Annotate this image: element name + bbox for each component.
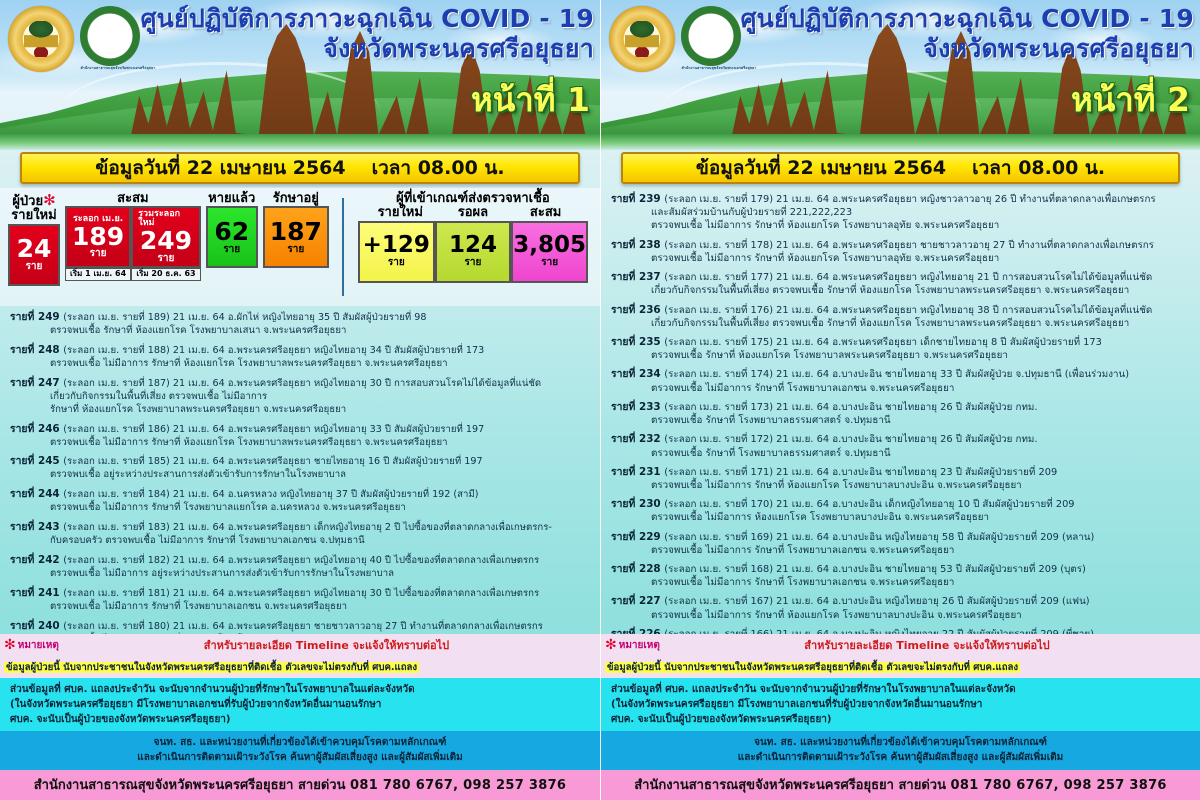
footer-cyan-line-1: ส่วนข้อมูลที่ ศบค. แถลงประจำวัน จะนับจาก… <box>611 682 1194 697</box>
page-title-line-2: จังหวัดพระนครศรีอยุธยา <box>141 34 594 64</box>
cumulative-group: สะสม ระลอก เม.ย. 189 ราย เริ่ม 1 เม.ย. 6… <box>65 192 201 281</box>
cumulative-title: สะสม <box>65 192 201 206</box>
panel-page-1: สำนักงานสาธารณสุขจังหวัดพระนครศรีอยุธยา … <box>0 0 600 800</box>
footer-highlight-row-2: ข้อมูลผู้ป่วยนี้ นับจากประชาชนในจังหวัดพ… <box>601 655 1200 678</box>
case-line-2: เกี่ยวกับกิจกรรมในพื้นที่เสี่ยง ตรวจพบเช… <box>611 317 1192 330</box>
footer-hotline-label: สายด่วน <box>898 778 945 793</box>
case-line-2: ตรวจพบเชื้อ ไม่มีอาการ อยู่ระหว่างประสาน… <box>10 568 592 581</box>
stat-cell-new-cases: 24 ราย <box>8 224 60 286</box>
page-title-line-1: ศูนย์ปฏิบัติการภาวะฉุกเฉิน COVID - 19 <box>141 4 594 34</box>
case-index: รายที่ 243 <box>10 521 63 533</box>
ground-strip <box>0 134 600 150</box>
case-line-1: (ระลอก เม.ย. รายที่ 187) 21 เม.ย. 64 อ.พ… <box>63 378 541 389</box>
case-index: รายที่ 240 <box>10 620 63 632</box>
case-index: รายที่ 249 <box>10 311 63 323</box>
new-patients-title: ผู้ป่วย✻ รายใหม่ <box>8 192 60 224</box>
stat-cell-cumulative-april: ระลอก เม.ย. 189 ราย <box>65 206 131 268</box>
asterisk-icon: ✻ <box>605 637 617 653</box>
stat-cell-treating: 187 ราย <box>263 206 329 268</box>
case-index: รายที่ 241 <box>10 587 63 599</box>
case-item: รายที่ 243 (ระลอก เม.ย. รายที่ 183) 21 เ… <box>10 520 592 548</box>
case-line-2: ตรวจพบเชื้อ ไม่มีอาการ รักษาที่ โรงพยาบา… <box>611 382 1192 395</box>
datebar-date: ข้อมูลวันที่ 22 เมษายน 2564 <box>95 153 345 183</box>
case-line-1: (ระลอก เม.ย. รายที่ 181) 21 เม.ย. 64 อ.พ… <box>63 588 539 599</box>
stat-value-treating: 187 <box>270 219 322 245</box>
case-index: รายที่ 248 <box>10 344 63 356</box>
stat-value-new-cases: 24 <box>17 236 52 262</box>
treating-title: รักษาอยู่ <box>263 192 329 206</box>
case-index: รายที่ 234 <box>611 368 664 380</box>
case-line-2: ตรวจพบเชื้อ ไม่มีอาการ รักษาที่ โรงพยาบา… <box>611 576 1192 589</box>
footer-note-row-2: ✻ หมายเหตุ สำหรับรายละเอียด Timeline จะแ… <box>601 634 1200 655</box>
asterisk-icon: ✻ <box>4 637 16 653</box>
case-line-1: (ระลอก เม.ย. รายที่ 178) 21 เม.ย. 64 อ.พ… <box>664 240 1154 251</box>
stat-value-screening-new: +129 <box>363 234 430 257</box>
page-number-label: หน้าที่ 1 <box>471 73 590 126</box>
footer-cyan-block-2: ส่วนข้อมูลที่ ศบค. แถลงประจำวัน จะนับจาก… <box>601 678 1200 731</box>
case-item: รายที่ 228 (ระลอก เม.ย. รายที่ 168) 21 เ… <box>611 562 1192 589</box>
footer-blue-line-1: จนท. สธ. และหน่วยงานที่เกี่ยวข้องได้เข้า… <box>609 736 1192 751</box>
datebar: ข้อมูลวันที่ 22 เมษายน 2564 เวลา 08.00 น… <box>621 152 1180 184</box>
case-line-2: กับครอบครัว ตรวจพบเชื้อ ไม่มีอาการ รักษา… <box>10 535 592 548</box>
footer-cyan-line-2: (ในจังหวัดพระนครศรีอยุธยา มีโรงพยาบาลเอก… <box>10 697 594 712</box>
stat-unit-screening-cumulative: ราย <box>541 258 558 268</box>
case-item: รายที่ 238 (ระลอก เม.ย. รายที่ 178) 21 เ… <box>611 238 1192 265</box>
stat-unit-recovered: ราย <box>223 245 240 255</box>
case-line-2: ตรวจพบเชื้อ ไม่มีอาการ รักษาที่ ห้องแยกโ… <box>10 437 592 450</box>
treating-cells: 187 ราย <box>263 206 329 268</box>
footer-cyan-line-3: ศบค. จะนับเป็นผู้ป่วยของจังหวัดพระนครศรี… <box>10 712 594 727</box>
stat-cell-screening-pending: 124 ราย <box>435 221 512 283</box>
case-line-1: (ระลอก เม.ย. รายที่ 170) 21 เม.ย. 64 อ.บ… <box>664 499 1074 510</box>
case-list-page-1: รายที่ 249 (ระลอก เม.ย. รายที่ 189) 21 เ… <box>0 306 600 634</box>
statistics-row: ผู้ป่วย✻ รายใหม่ 24 ราย สะสม <box>0 188 600 306</box>
case-item: รายที่ 237 (ระลอก เม.ย. รายที่ 177) 21 เ… <box>611 270 1192 297</box>
new-patients-title-line-2: รายใหม่ <box>11 208 56 223</box>
case-line-1: (ระลอก เม.ย. รายที่ 168) 21 เม.ย. 64 อ.บ… <box>664 564 1086 575</box>
case-item: รายที่ 242 (ระลอก เม.ย. รายที่ 182) 21 เ… <box>10 553 592 581</box>
treating-group: รักษาอยู่ 187 ราย <box>263 192 329 268</box>
footer-blue-line-2: และดำเนินการติดตามเฝ้าระวังโรค ค้นหาผู้ส… <box>609 751 1192 766</box>
case-item: รายที่ 245 (ระลอก เม.ย. รายที่ 185) 21 เ… <box>10 454 592 482</box>
case-index: รายที่ 247 <box>10 377 63 389</box>
footer-contact-bar-1: สำนักงานสาธารณสุขจังหวัดพระนครศรีอยุธยา … <box>0 770 600 800</box>
datebar: ข้อมูลวันที่ 22 เมษายน 2564 เวลา 08.00 น… <box>20 152 580 184</box>
stat-value-cumulative-total: 249 <box>140 228 192 254</box>
page-title: ศูนย์ปฏิบัติการภาวะฉุกเฉิน COVID - 19 จั… <box>741 4 1194 63</box>
case-index: รายที่ 232 <box>611 433 664 445</box>
case-item: รายที่ 230 (ระลอก เม.ย. รายที่ 170) 21 เ… <box>611 497 1192 524</box>
case-line-2: ตรวจพบเชื้อ ไม่มีอาการ รักษาที่ โรงพยาบา… <box>611 544 1192 557</box>
datebar-date: ข้อมูลวันที่ 22 เมษายน 2564 <box>696 153 946 183</box>
case-index: รายที่ 233 <box>611 401 664 413</box>
footer-cyan-line-3: ศบค. จะนับเป็นผู้ป่วยของจังหวัดพระนครศรี… <box>611 712 1194 727</box>
datebar-time: เวลา 08.00 น. <box>372 153 505 183</box>
patient-stats-group: ผู้ป่วย✻ รายใหม่ 24 ราย สะสม <box>6 192 334 286</box>
page-number-label: หน้าที่ 2 <box>1071 73 1190 126</box>
ground-strip <box>601 134 1200 150</box>
case-item: รายที่ 232 (ระลอก เม.ย. รายที่ 172) 21 เ… <box>611 432 1192 459</box>
case-item: รายที่ 239 (ระลอก เม.ย. รายที่ 179) 21 เ… <box>611 192 1192 233</box>
case-line-1: (ระลอก เม.ย. รายที่ 184) 21 เม.ย. 64 อ.น… <box>63 489 478 500</box>
stat-unit-screening-pending: ราย <box>465 258 482 268</box>
case-item: รายที่ 248 (ระลอก เม.ย. รายที่ 188) 21 เ… <box>10 343 592 371</box>
asterisk-icon: ✻ <box>43 191 56 209</box>
case-line-1: (ระลอก เม.ย. รายที่ 189) 21 เม.ย. 64 อ.ผ… <box>63 312 426 323</box>
cumulative-column-april: ระลอก เม.ย. 189 ราย เริ่ม 1 เม.ย. 64 <box>65 206 131 281</box>
header-page-2: สำนักงานสาธารณสุขจังหวัดพระนครศรีอยุธยา … <box>601 0 1200 150</box>
caduceus-icon <box>95 25 125 43</box>
case-index: รายที่ 230 <box>611 498 664 510</box>
case-item: รายที่ 241 (ระลอก เม.ย. รายที่ 181) 21 เ… <box>10 586 592 614</box>
footer-hotline-numbers[interactable]: 081 780 6767, 098 257 3876 <box>350 778 566 793</box>
case-line-1: (ระลอก เม.ย. รายที่ 186) 21 เม.ย. 64 อ.พ… <box>63 424 484 435</box>
case-line-2: ตรวจพบเชื้อ ไม่มีอาการ รักษาที่ ห้องแยกโ… <box>611 252 1192 265</box>
case-line-3: ตรวจพบเชื้อ ไม่มีอาการ รักษาที่ ห้องแยกโ… <box>611 219 1192 232</box>
datebar-wrapper-2: ข้อมูลวันที่ 22 เมษายน 2564 เวลา 08.00 น… <box>601 150 1200 188</box>
stat-cell-screening-new: +129 ราย <box>358 221 435 283</box>
screening-label-cumulative: สะสม <box>509 206 582 220</box>
footer-office-name: สำนักงานสาธารณสุขจังหวัดพระนครศรีอยุธยา <box>34 778 294 793</box>
screening-label-new: รายใหม่ <box>364 206 437 220</box>
case-item: รายที่ 240 (ระลอก เม.ย. รายที่ 180) 21 เ… <box>10 619 592 634</box>
case-index: รายที่ 229 <box>611 531 664 543</box>
case-line-1: (ระลอก เม.ย. รายที่ 182) 21 เม.ย. 64 อ.พ… <box>63 555 539 566</box>
case-line-1: (ระลอก เม.ย. รายที่ 175) 21 เม.ย. 64 อ.พ… <box>664 337 1102 348</box>
footer-timeline-text: สำหรับรายละเอียด Timeline จะแจ้งให้ทราบต… <box>804 636 1049 654</box>
case-line-3: รักษาที่ ห้องแยกโรค โรงพยาบาลพระนครศรีอย… <box>10 404 592 417</box>
poster-board: สำนักงานสาธารณสุขจังหวัดพระนครศรีอยุธยา … <box>0 0 1200 800</box>
case-line-2: ตรวจพบเชื้อ ไม่มีอาการ รักษาที่ ห้องแยกโ… <box>10 358 592 371</box>
case-index: รายที่ 231 <box>611 466 664 478</box>
recovered-cells: 62 ราย <box>206 206 258 268</box>
case-index: รายที่ 228 <box>611 563 664 575</box>
case-line-2: ตรวจพบเชื้อ ไม่มีอาการ รักษาที่ โรงพยาบา… <box>10 601 592 614</box>
page-title: ศูนย์ปฏิบัติการภาวะฉุกเฉิน COVID - 19 จั… <box>141 4 594 63</box>
case-line-1: (ระลอก เม.ย. รายที่ 188) 21 เม.ย. 64 อ.พ… <box>63 345 484 356</box>
footer-note-row-1: ✻ หมายเหตุ สำหรับรายละเอียด Timeline จะแ… <box>0 634 600 655</box>
provincial-seal-icon <box>609 6 675 72</box>
case-index: รายที่ 235 <box>611 336 664 348</box>
datebar-time: เวลา 08.00 น. <box>972 153 1105 183</box>
stat-value-cumulative-april: 189 <box>72 224 124 250</box>
recovered-group: หายแล้ว 62 ราย <box>206 192 258 268</box>
footer-hotline-numbers[interactable]: 081 780 6767, 098 257 3876 <box>951 778 1167 793</box>
screening-label-pending: รอผล <box>437 206 510 220</box>
case-item: รายที่ 233 (ระลอก เม.ย. รายที่ 173) 21 เ… <box>611 400 1192 427</box>
case-item: รายที่ 247 (ระลอก เม.ย. รายที่ 187) 21 เ… <box>10 376 592 417</box>
case-index: รายที่ 245 <box>10 455 63 467</box>
case-line-2: ตรวจพบเชื้อ ไม่มีอาการ รักษาที่ ห้องแยกโ… <box>611 479 1192 492</box>
case-line-2: ตรวจพบเชื้อ รักษาที่ ห้องแยกโรค โรงพยาบา… <box>10 325 592 338</box>
provincial-seal-icon <box>8 6 74 72</box>
footer-cyan-block-1: ส่วนข้อมูลที่ ศบค. แถลงประจำวัน จะนับจาก… <box>0 678 600 731</box>
case-line-2: ตรวจพบเชื้อ อยู่ระหว่างประสานการส่งตัวเข… <box>10 469 592 482</box>
footer-cyan-line-2: (ในจังหวัดพระนครศรีอยุธยา มีโรงพยาบาลเอก… <box>611 697 1194 712</box>
case-line-2: เกี่ยวกับกิจกรรมในพื้นที่เสี่ยง ตรวจพบเช… <box>611 284 1192 297</box>
footer-note-label: หมายเหตุ <box>619 638 660 653</box>
footer-page-1: ✻ หมายเหตุ สำหรับรายละเอียด Timeline จะแ… <box>0 634 600 800</box>
footer-office-name: สำนักงานสาธารณสุขจังหวัดพระนครศรีอยุธยา <box>634 778 894 793</box>
stat-note-cumulative-april: เริ่ม 1 เม.ย. 64 <box>65 268 131 281</box>
new-patients-cells: 24 ราย <box>8 224 60 286</box>
case-line-2: ตรวจพบเชื้อ ไม่มีอาการ ห้องแยกโรค โรงพยา… <box>611 511 1192 524</box>
case-line-2: ตรวจพบเชื้อ รักษาที่ ห้องแยกโรค โรงพยาบา… <box>611 349 1192 362</box>
recovered-title: หายแล้ว <box>206 192 258 206</box>
stat-cell-recovered: 62 ราย <box>206 206 258 268</box>
stat-unit-cumulative-total: ราย <box>158 254 175 264</box>
case-line-1: (ระลอก เม.ย. รายที่ 176) 21 เม.ย. 64 อ.พ… <box>664 305 1152 316</box>
case-item: รายที่ 244 (ระลอก เม.ย. รายที่ 184) 21 เ… <box>10 487 592 515</box>
case-item: รายที่ 235 (ระลอก เม.ย. รายที่ 175) 21 เ… <box>611 335 1192 362</box>
page-title-line-1: ศูนย์ปฏิบัติการภาวะฉุกเฉิน COVID - 19 <box>741 4 1194 34</box>
footer-blue-line-2: และดำเนินการติดตามเฝ้าระวังโรค ค้นหาผู้ส… <box>8 751 592 766</box>
footer-cyan-line-1: ส่วนข้อมูลที่ ศบค. แถลงประจำวัน จะนับจาก… <box>10 682 594 697</box>
stat-unit-treating: ราย <box>287 245 304 255</box>
case-line-2: และสัมผัสร่วมบ้านกับผู้ป่วยรายที่ 221,22… <box>611 206 1192 219</box>
case-index: รายที่ 238 <box>611 239 664 251</box>
case-item: รายที่ 234 (ระลอก เม.ย. รายที่ 174) 21 เ… <box>611 367 1192 394</box>
case-index: รายที่ 244 <box>10 488 63 500</box>
logo-group <box>8 6 140 72</box>
case-line-1: (ระลอก เม.ย. รายที่ 173) 21 เม.ย. 64 อ.บ… <box>664 402 1037 413</box>
case-line-1: (ระลอก เม.ย. รายที่ 171) 21 เม.ย. 64 อ.บ… <box>664 467 1057 478</box>
header-page-1: สำนักงานสาธารณสุขจังหวัดพระนครศรีอยุธยา … <box>0 0 600 150</box>
stat-unit-new-cases: ราย <box>26 262 43 272</box>
ministry-of-public-health-icon <box>681 6 741 66</box>
case-line-1: (ระลอก เม.ย. รายที่ 183) 21 เม.ย. 64 อ.พ… <box>63 522 552 533</box>
new-patients-title-line-1: ผู้ป่วย <box>12 194 43 209</box>
case-line-1: (ระลอก เม.ย. รายที่ 179) 21 เม.ย. 64 อ.พ… <box>664 194 1155 205</box>
case-line-2: ตรวจพบเชื้อ ไม่มีอาการ รักษาที่ โรงพยาบา… <box>10 502 592 515</box>
cumulative-cells: ระลอก เม.ย. 189 ราย เริ่ม 1 เม.ย. 64 รวม… <box>65 206 201 281</box>
new-patients-group: ผู้ป่วย✻ รายใหม่ 24 ราย <box>8 192 60 286</box>
cumulative-column-total: รวมระลอกใหม่ 249 ราย เริ่ม 20 ธ.ค. 63 <box>131 206 201 281</box>
footer-highlight-text: ข้อมูลผู้ป่วยนี้ นับจากประชาชนในจังหวัดพ… <box>4 662 419 673</box>
stat-unit-screening-new: ราย <box>388 258 405 268</box>
stat-cell-screening-cumulative: 3,805 ราย <box>511 221 588 283</box>
ministry-of-public-health-icon <box>80 6 140 66</box>
footer-highlight-text: ข้อมูลผู้ป่วยนี้ นับจากประชาชนในจังหวัดพ… <box>605 662 1020 673</box>
stat-value-screening-pending: 124 <box>449 234 497 257</box>
case-item: รายที่ 236 (ระลอก เม.ย. รายที่ 176) 21 เ… <box>611 303 1192 330</box>
footer-blue-line-1: จนท. สธ. และหน่วยงานที่เกี่ยวข้องได้เข้า… <box>8 736 592 751</box>
footer-highlight-row-1: ข้อมูลผู้ป่วยนี้ นับจากประชาชนในจังหวัดพ… <box>0 655 600 678</box>
case-line-1: (ระลอก เม.ย. รายที่ 174) 21 เม.ย. 64 อ.บ… <box>664 369 1129 380</box>
case-item: รายที่ 246 (ระลอก เม.ย. รายที่ 186) 21 เ… <box>10 422 592 450</box>
footer-timeline-text: สำหรับรายละเอียด Timeline จะแจ้งให้ทราบต… <box>204 636 449 654</box>
case-item: รายที่ 231 (ระลอก เม.ย. รายที่ 171) 21 เ… <box>611 465 1192 492</box>
case-item: รายที่ 227 (ระลอก เม.ย. รายที่ 167) 21 เ… <box>611 594 1192 621</box>
panel-page-2: สำนักงานสาธารณสุขจังหวัดพระนครศรีอยุธยา … <box>600 0 1200 800</box>
case-line-1: (ระลอก เม.ย. รายที่ 172) 21 เม.ย. 64 อ.บ… <box>664 434 1037 445</box>
footer-blue-block-2: จนท. สธ. และหน่วยงานที่เกี่ยวข้องได้เข้า… <box>601 731 1200 770</box>
case-line-1: (ระลอก เม.ย. รายที่ 167) 21 เม.ย. 64 อ.บ… <box>664 596 1089 607</box>
caduceus-icon <box>696 25 726 43</box>
screening-stats-group: ผู้ที่เข้าเกณฑ์ส่งตรวจหาเชื้อ รายใหม่ รอ… <box>352 192 594 283</box>
case-line-1: (ระลอก เม.ย. รายที่ 169) 21 เม.ย. 64 อ.บ… <box>664 532 1094 543</box>
stat-value-screening-cumulative: 3,805 <box>513 234 586 257</box>
case-item: รายที่ 226 (ระลอก เม.ย. รายที่ 166) 21 เ… <box>611 627 1192 634</box>
footer-blue-block-1: จนท. สธ. และหน่วยงานที่เกี่ยวข้องได้เข้า… <box>0 731 600 770</box>
footer-note-label: หมายเหตุ <box>18 638 59 653</box>
case-line-2: เกี่ยวกับกิจกรรมในพื้นที่เสี่ยง ตรวจพบเช… <box>10 391 592 404</box>
stat-note-cumulative-total: เริ่ม 20 ธ.ค. 63 <box>131 268 201 281</box>
case-list-page-2: รายที่ 239 (ระลอก เม.ย. รายที่ 179) 21 เ… <box>601 188 1200 634</box>
case-index: รายที่ 236 <box>611 304 664 316</box>
case-line-1: (ระลอก เม.ย. รายที่ 185) 21 เม.ย. 64 อ.พ… <box>63 456 482 467</box>
case-line-2: ตรวจพบเชื้อ รักษาที่ โรงพยาบาลธรรมศาสตร์… <box>611 414 1192 427</box>
case-item: รายที่ 249 (ระลอก เม.ย. รายที่ 189) 21 เ… <box>10 310 592 338</box>
stat-unit-cumulative-april: ราย <box>90 249 107 259</box>
case-index: รายที่ 237 <box>611 271 664 283</box>
case-item: รายที่ 229 (ระลอก เม.ย. รายที่ 169) 21 เ… <box>611 530 1192 557</box>
case-line-1: (ระลอก เม.ย. รายที่ 180) 21 เม.ย. 64 อ.พ… <box>63 621 543 632</box>
case-line-2: ตรวจพบเชื้อ ไม่มีอาการ รักษาที่ ห้องแยกโ… <box>611 609 1192 622</box>
page-title-line-2: จังหวัดพระนครศรีอยุธยา <box>741 34 1194 64</box>
footer-contact-bar-2: สำนักงานสาธารณสุขจังหวัดพระนครศรีอยุธยา … <box>601 770 1200 800</box>
case-index: รายที่ 239 <box>611 193 664 205</box>
logo-group <box>609 6 741 72</box>
footer-hotline-label: สายด่วน <box>298 778 345 793</box>
case-line-1: (ระลอก เม.ย. รายที่ 177) 21 เม.ย. 64 อ.พ… <box>664 272 1152 283</box>
case-line-2: ตรวจพบเชื้อ รักษาที่ โรงพยาบาลธรรมศาสตร์… <box>611 447 1192 460</box>
stats-divider <box>342 198 344 296</box>
datebar-wrapper-1: ข้อมูลวันที่ 22 เมษายน 2564 เวลา 08.00 น… <box>0 150 600 188</box>
stat-cell-cumulative-total: รวมระลอกใหม่ 249 ราย <box>131 206 201 268</box>
stat-value-recovered: 62 <box>214 219 249 245</box>
case-index: รายที่ 246 <box>10 423 63 435</box>
case-index: รายที่ 242 <box>10 554 63 566</box>
footer-page-2: ✻ หมายเหตุ สำหรับรายละเอียด Timeline จะแ… <box>601 634 1200 800</box>
case-index: รายที่ 227 <box>611 595 664 607</box>
